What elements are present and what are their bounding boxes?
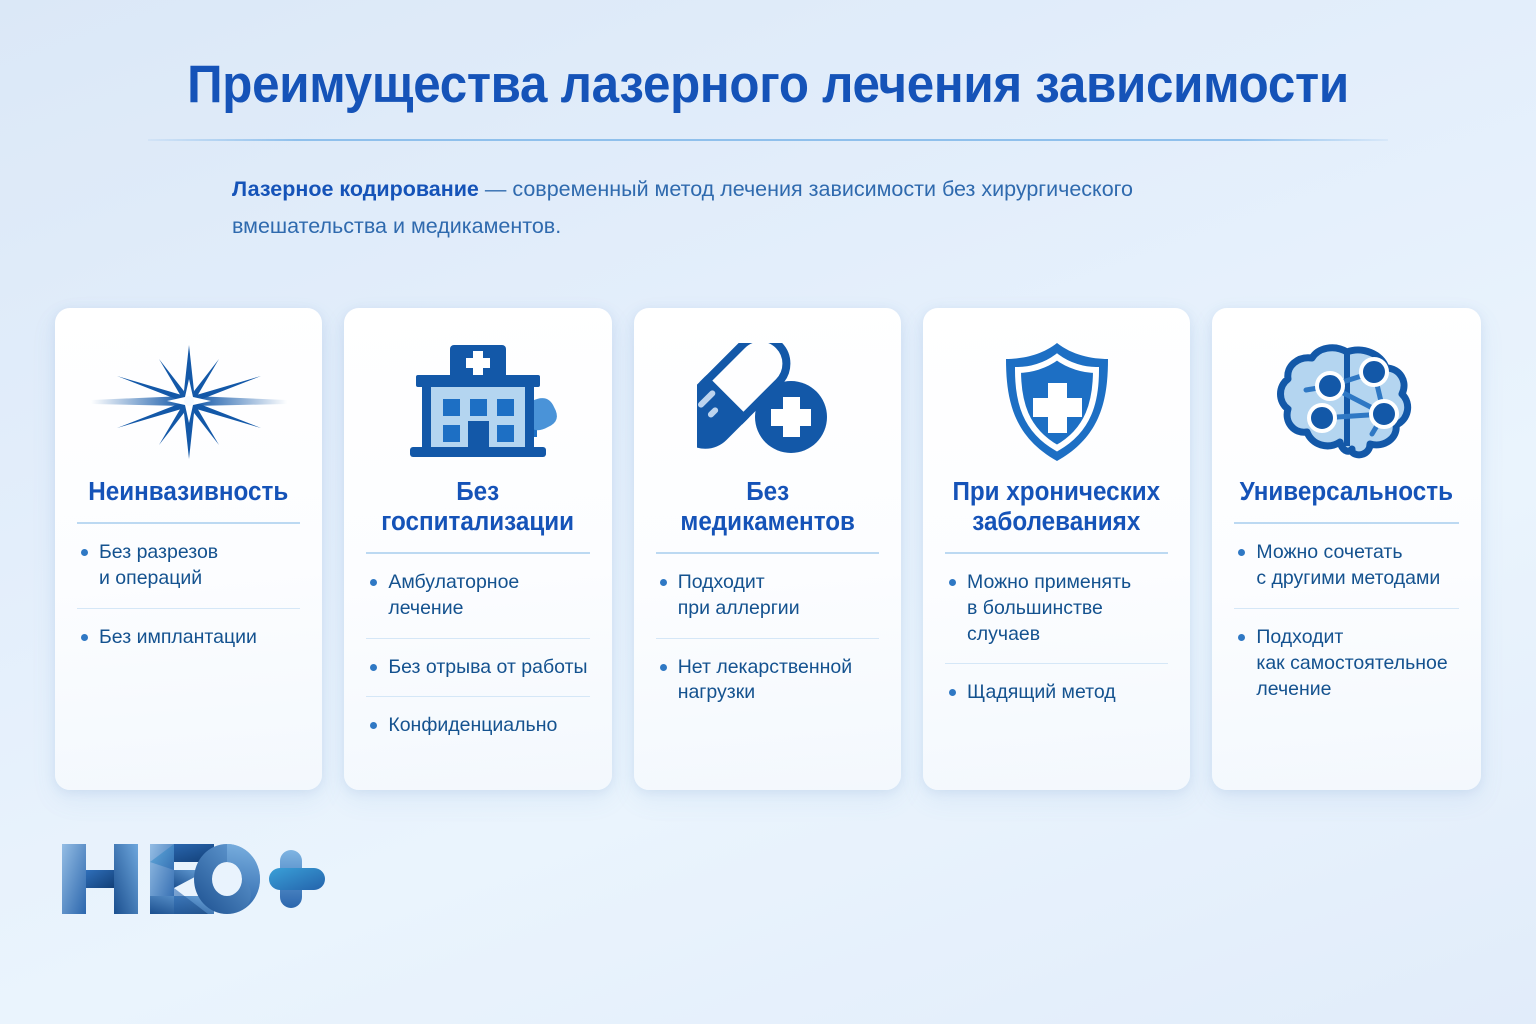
bullet-text: Без разрезови операций: [99, 540, 218, 592]
card-title: Без госпитализации: [372, 478, 584, 538]
benefit-card-universality[interactable]: Универсальность Можно сочетатьс другими …: [1212, 308, 1481, 790]
list-item: Без имплантации: [77, 609, 300, 667]
bullet-list: Амбулаторноелечение Без отрыва от работы…: [366, 554, 589, 756]
bullet-text: Подходиткак самостоятельноелечение: [1256, 625, 1447, 703]
infographic-page: Преимущества лазерного лечения зависимос…: [0, 0, 1536, 1024]
title-divider: [148, 139, 1388, 141]
bullet-dot-icon: [370, 664, 377, 671]
bullet-list: Без разрезови операций Без имплантации: [77, 524, 300, 667]
bullet-dot-icon: [1238, 634, 1245, 641]
laser-burst-icon: [77, 338, 300, 466]
bullet-text: Щадящий метод: [967, 680, 1116, 706]
bullet-text: Подходитпри аллергии: [678, 570, 800, 622]
page-title: Преимущества лазерного лечения зависимос…: [54, 56, 1482, 113]
card-title: Без медикаментов: [661, 478, 873, 538]
neo-plus-logo: [58, 836, 328, 922]
bullet-text: Без имплантации: [99, 625, 257, 651]
bullet-dot-icon: [370, 579, 377, 586]
bullet-text: Можно применятьв большинстве случаев: [967, 570, 1168, 648]
list-item: Можно применятьв большинстве случаев: [945, 554, 1168, 665]
list-item: Без разрезови операций: [77, 524, 300, 609]
bullet-dot-icon: [81, 549, 88, 556]
bullet-text: Конфиденциально: [388, 713, 557, 739]
brain-network-icon: [1234, 338, 1459, 466]
benefit-card-no-hospitalization[interactable]: Без госпитализации Амбулаторноелечение Б…: [344, 308, 611, 790]
bullet-dot-icon: [81, 634, 88, 641]
list-item: Подходитпри аллергии: [656, 554, 879, 639]
benefit-card-chronic-conditions[interactable]: При хроническихзаболеваниях Можно примен…: [923, 308, 1190, 790]
hospital-building-icon: [366, 338, 589, 466]
bullet-list: Подходитпри аллергии Нет лекарственнойна…: [656, 554, 879, 723]
list-item: Подходиткак самостоятельноелечение: [1234, 609, 1459, 719]
list-item: Конфиденциально: [366, 697, 589, 755]
bullet-dot-icon: [949, 689, 956, 696]
benefit-card-no-medication[interactable]: Без медикаментов Подходитпри аллергии Не…: [634, 308, 901, 790]
bullet-dot-icon: [1238, 549, 1245, 556]
benefit-cards-row: Неинвазивность Без разрезови операций Бе…: [55, 308, 1481, 790]
bullet-dot-icon: [949, 579, 956, 586]
pill-capsule-icon: [656, 338, 879, 466]
header: Преимущества лазерного лечения зависимос…: [0, 0, 1536, 245]
bullet-text: Без отрыва от работы: [388, 655, 587, 681]
bullet-text: Нет лекарственнойнагрузки: [678, 655, 852, 707]
bullet-list: Можно применятьв большинстве случаев Щад…: [945, 554, 1168, 723]
card-title: При хроническихзаболеваниях: [953, 478, 1161, 538]
bullet-dot-icon: [370, 722, 377, 729]
shield-cross-icon: [945, 338, 1168, 466]
bullet-list: Можно сочетатьс другими методами Подходи…: [1234, 524, 1459, 719]
bullet-text: Можно сочетатьс другими методами: [1256, 540, 1440, 592]
list-item: Можно сочетатьс другими методами: [1234, 524, 1459, 609]
bullet-text: Амбулаторноелечение: [388, 570, 519, 622]
card-title: Универсальность: [1240, 478, 1453, 508]
list-item: Амбулаторноелечение: [366, 554, 589, 639]
subtitle-strong: Лазерное кодирование: [232, 177, 479, 201]
card-title: Неинвазивность: [89, 478, 289, 508]
benefit-card-noninvasive[interactable]: Неинвазивность Без разрезови операций Бе…: [55, 308, 322, 790]
subtitle-block: Лазерное кодирование — современный метод…: [232, 171, 1212, 245]
list-item: Нет лекарственнойнагрузки: [656, 639, 879, 723]
list-item: Щадящий метод: [945, 664, 1168, 722]
bullet-dot-icon: [660, 664, 667, 671]
list-item: Без отрыва от работы: [366, 639, 589, 698]
bullet-dot-icon: [660, 579, 667, 586]
subtitle: Лазерное кодирование — современный метод…: [232, 171, 1212, 245]
